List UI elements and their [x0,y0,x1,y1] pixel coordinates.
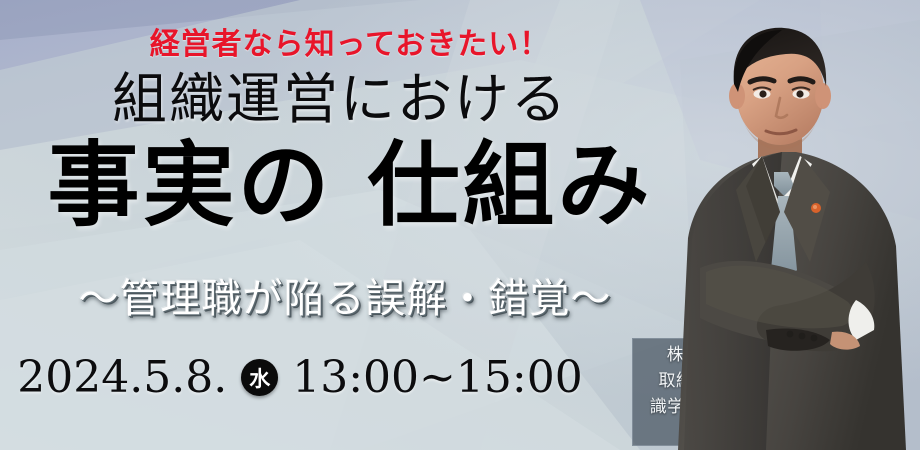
banner-content: 経営者なら知っておきたい！ 組織運営における 事実の 仕組み 〜管理職が陥る誤解… [0,0,700,450]
subtitle: 〜管理職が陥る誤解・錯覚〜 [0,266,690,324]
weekday-badge: 水 [241,359,278,396]
event-date: 2024.5.8. [17,352,227,403]
title-line-2: 事実の 仕組み [0,136,700,235]
webinar-banner: 経営者なら知っておきたい！ 組織運営における 事実の 仕組み 〜管理職が陥る誤解… [0,0,920,450]
schedule-row: 2024.5.8. 水 13:00~15:00 [0,352,600,403]
kicker-headline: 経営者なら知っておきたい！ [0,19,700,63]
presenter-photo [670,0,920,450]
event-time: 13:00~15:00 [292,352,582,403]
title-line-1: 組織運営における [0,72,680,127]
